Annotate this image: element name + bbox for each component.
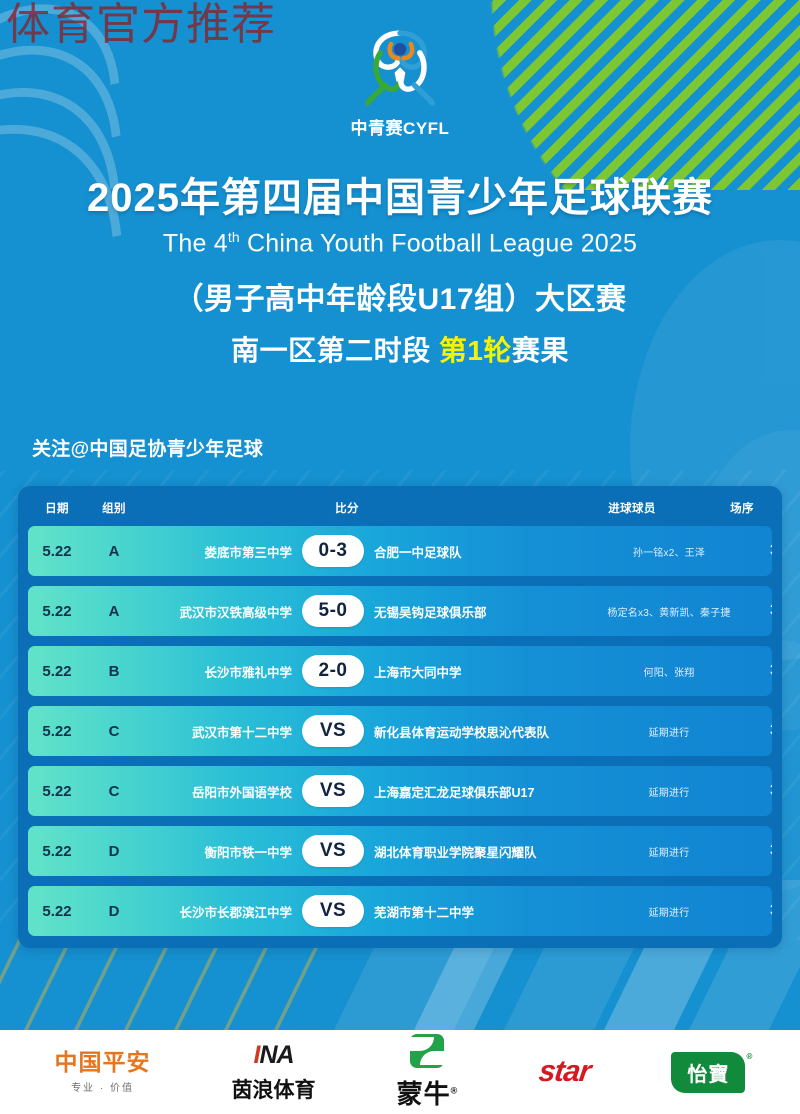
title-en-rest: China Youth Football League 2025: [240, 229, 637, 257]
team-away: 湖北体育职业学院聚星闪耀队: [374, 842, 589, 861]
cell-order: 36: [749, 782, 772, 800]
table-row: 5.22A娄底市第三中学0-3合肥一中足球队孙一铭x2、王泽32: [28, 526, 772, 576]
team-away: 上海市大同中学: [374, 662, 589, 681]
cyfl-emblem-icon: [355, 26, 445, 112]
cell-date: 5.22: [28, 663, 86, 680]
score-badge: VS: [302, 775, 364, 807]
sponsor-yibao-reg: ®: [747, 1052, 754, 1061]
cell-group: C: [86, 783, 142, 800]
cell-scorer: 延期进行: [589, 904, 749, 919]
cell-date: 5.22: [28, 603, 86, 620]
cell-scorer: 孙一铭x2、王泽: [589, 544, 749, 559]
cell-group: D: [86, 903, 142, 920]
poster-canvas: 体育官方推荐 中青赛CYFL 2025年第四届中国青少年足球联赛 The 4th…: [0, 0, 800, 1114]
title-en-prefix: The 4: [163, 229, 228, 257]
round-highlight: 第1轮: [439, 335, 512, 366]
score-badge: VS: [302, 715, 364, 747]
round-suffix: 赛果: [512, 335, 569, 366]
score-badge: VS: [302, 835, 364, 867]
cell-scorer: 延期进行: [589, 724, 749, 739]
header-score: 比分: [142, 500, 552, 516]
score-badge: 5-0: [302, 595, 364, 627]
main-title-cn: 2025年第四届中国青少年足球联赛: [0, 176, 800, 220]
cell-date: 5.22: [28, 843, 86, 860]
green-stripe-fan-decoration: [470, 0, 800, 190]
team-home: 长沙市雅礼中学: [142, 662, 292, 681]
team-home: 衡阳市铁一中学: [142, 842, 292, 861]
team-away: 上海嘉定汇龙足球俱乐部U17: [374, 782, 589, 801]
round-prefix: 南一区第二时段: [231, 335, 439, 366]
subtitle-round: 南一区第二时段 第1轮赛果: [0, 329, 800, 369]
table-row: 5.22D衡阳市铁一中学VS湖北体育职业学院聚星闪耀队延期进行37: [28, 826, 772, 876]
cell-match: 武汉市第十二中学VS新化县体育运动学校思沁代表队: [142, 715, 589, 747]
cell-order: 37: [749, 842, 772, 860]
team-home: 长沙市长郡滨江中学: [142, 902, 292, 921]
header-order: 场序: [712, 500, 772, 516]
cell-scorer: 杨定名x3、黄新凯、秦子捷: [589, 604, 749, 619]
table-row: 5.22B长沙市雅礼中学2-0上海市大同中学何阳、张翔34: [28, 646, 772, 696]
team-away: 合肥一中足球队: [374, 542, 589, 561]
sponsor-pingan-tagline: 专业 · 价值: [71, 1079, 134, 1094]
team-away: 芜湖市第十二中学: [374, 902, 589, 921]
team-away: 无锡吴钩足球俱乐部: [374, 602, 589, 621]
cell-scorer: 延期进行: [589, 844, 749, 859]
cell-match: 娄底市第三中学0-3合肥一中足球队: [142, 535, 589, 567]
team-home: 岳阳市外国语学校: [142, 782, 292, 801]
cell-order: 34: [749, 662, 772, 680]
cell-match: 衡阳市铁一中学VS湖北体育职业学院聚星闪耀队: [142, 835, 589, 867]
sponsor-star-name: star: [537, 1055, 593, 1089]
sponsor-ina-mark: INA: [254, 1041, 294, 1070]
mengniu-logo-icon: [410, 1034, 444, 1068]
cell-date: 5.22: [28, 543, 86, 560]
sponsor-star: star: [539, 1055, 590, 1089]
sponsor-mengniu-reg: ®: [451, 1085, 459, 1095]
cell-order: 38: [749, 902, 772, 920]
sponsor-pingan: 中国平安 专业 · 价值: [55, 1051, 151, 1094]
cell-group: C: [86, 723, 142, 740]
sponsor-mengniu-label: 蒙牛: [397, 1079, 451, 1109]
sponsor-ina: INA 茵浪体育: [232, 1041, 316, 1104]
cell-group: D: [86, 843, 142, 860]
cell-date: 5.22: [28, 903, 86, 920]
main-title-en: The 4th China Youth Football League 2025: [0, 229, 800, 258]
cell-match: 长沙市长郡滨江中学VS芜湖市第十二中学: [142, 895, 589, 927]
team-home: 武汉市第十二中学: [142, 722, 292, 741]
sponsor-yibao: 怡寶®: [671, 1052, 745, 1093]
header-date: 日期: [28, 500, 86, 516]
table-body: 5.22A娄底市第三中学0-3合肥一中足球队孙一铭x2、王泽325.22A武汉市…: [28, 526, 772, 936]
sponsor-yibao-label: 怡寶: [687, 1064, 729, 1086]
league-logo: 中青赛CYFL: [325, 26, 475, 139]
cell-scorer: 延期进行: [589, 784, 749, 799]
sponsor-ina-mark-na: NA: [259, 1041, 293, 1069]
sponsor-ina-name: 茵浪体育: [232, 1074, 316, 1104]
cell-group: A: [86, 543, 142, 560]
sponsor-mengniu: 蒙牛®: [397, 1034, 459, 1111]
cell-match: 岳阳市外国语学校VS上海嘉定汇龙足球俱乐部U17: [142, 775, 589, 807]
score-badge: VS: [302, 895, 364, 927]
team-home: 武汉市汉铁高级中学: [142, 602, 292, 621]
cell-group: A: [86, 603, 142, 620]
title-block: 2025年第四届中国青少年足球联赛 The 4th China Youth Fo…: [0, 176, 800, 369]
cell-match: 武汉市汉铁高级中学5-0无锡吴钩足球俱乐部: [142, 595, 589, 627]
cell-order: 33: [749, 602, 772, 620]
sponsor-yibao-name: 怡寶®: [671, 1052, 745, 1093]
table-row: 5.22C武汉市第十二中学VS新化县体育运动学校思沁代表队延期进行35: [28, 706, 772, 756]
sponsor-bar: 中国平安 专业 · 价值 INA 茵浪体育 蒙牛® star 怡寶®: [0, 1030, 800, 1114]
team-home: 娄底市第三中学: [142, 542, 292, 561]
table-row: 5.22D长沙市长郡滨江中学VS芜湖市第十二中学延期进行38: [28, 886, 772, 936]
cell-order: 35: [749, 722, 772, 740]
header-scorer: 进球球员: [552, 500, 712, 516]
follow-handle-text: 关注@中国足协青少年足球: [32, 434, 263, 461]
team-away: 新化县体育运动学校思沁代表队: [374, 722, 589, 741]
title-en-ordinal: th: [228, 229, 240, 245]
logo-label: 中青赛CYFL: [325, 114, 475, 139]
results-table-panel: 日期 组别 比分 进球球员 场序 5.22A娄底市第三中学0-3合肥一中足球队孙…: [18, 486, 782, 948]
sponsor-pingan-name: 中国平安: [55, 1051, 151, 1074]
score-badge: 2-0: [302, 655, 364, 687]
cell-match: 长沙市雅礼中学2-0上海市大同中学: [142, 655, 589, 687]
cell-date: 5.22: [28, 783, 86, 800]
watermark-text: 体育官方推荐: [6, 2, 276, 48]
cell-scorer: 何阳、张翔: [589, 664, 749, 679]
cell-group: B: [86, 663, 142, 680]
table-row: 5.22C岳阳市外国语学校VS上海嘉定汇龙足球俱乐部U17延期进行36: [28, 766, 772, 816]
table-row: 5.22A武汉市汉铁高级中学5-0无锡吴钩足球俱乐部杨定名x3、黄新凯、秦子捷3…: [28, 586, 772, 636]
cell-order: 32: [749, 542, 772, 560]
cell-date: 5.22: [28, 723, 86, 740]
header-group: 组别: [86, 500, 142, 516]
subtitle-category: （男子高中年龄段U17组）大区赛: [0, 274, 800, 318]
table-header-row: 日期 组别 比分 进球球员 场序: [28, 492, 772, 524]
score-badge: 0-3: [302, 535, 364, 567]
sponsor-mengniu-name: 蒙牛®: [397, 1074, 459, 1111]
